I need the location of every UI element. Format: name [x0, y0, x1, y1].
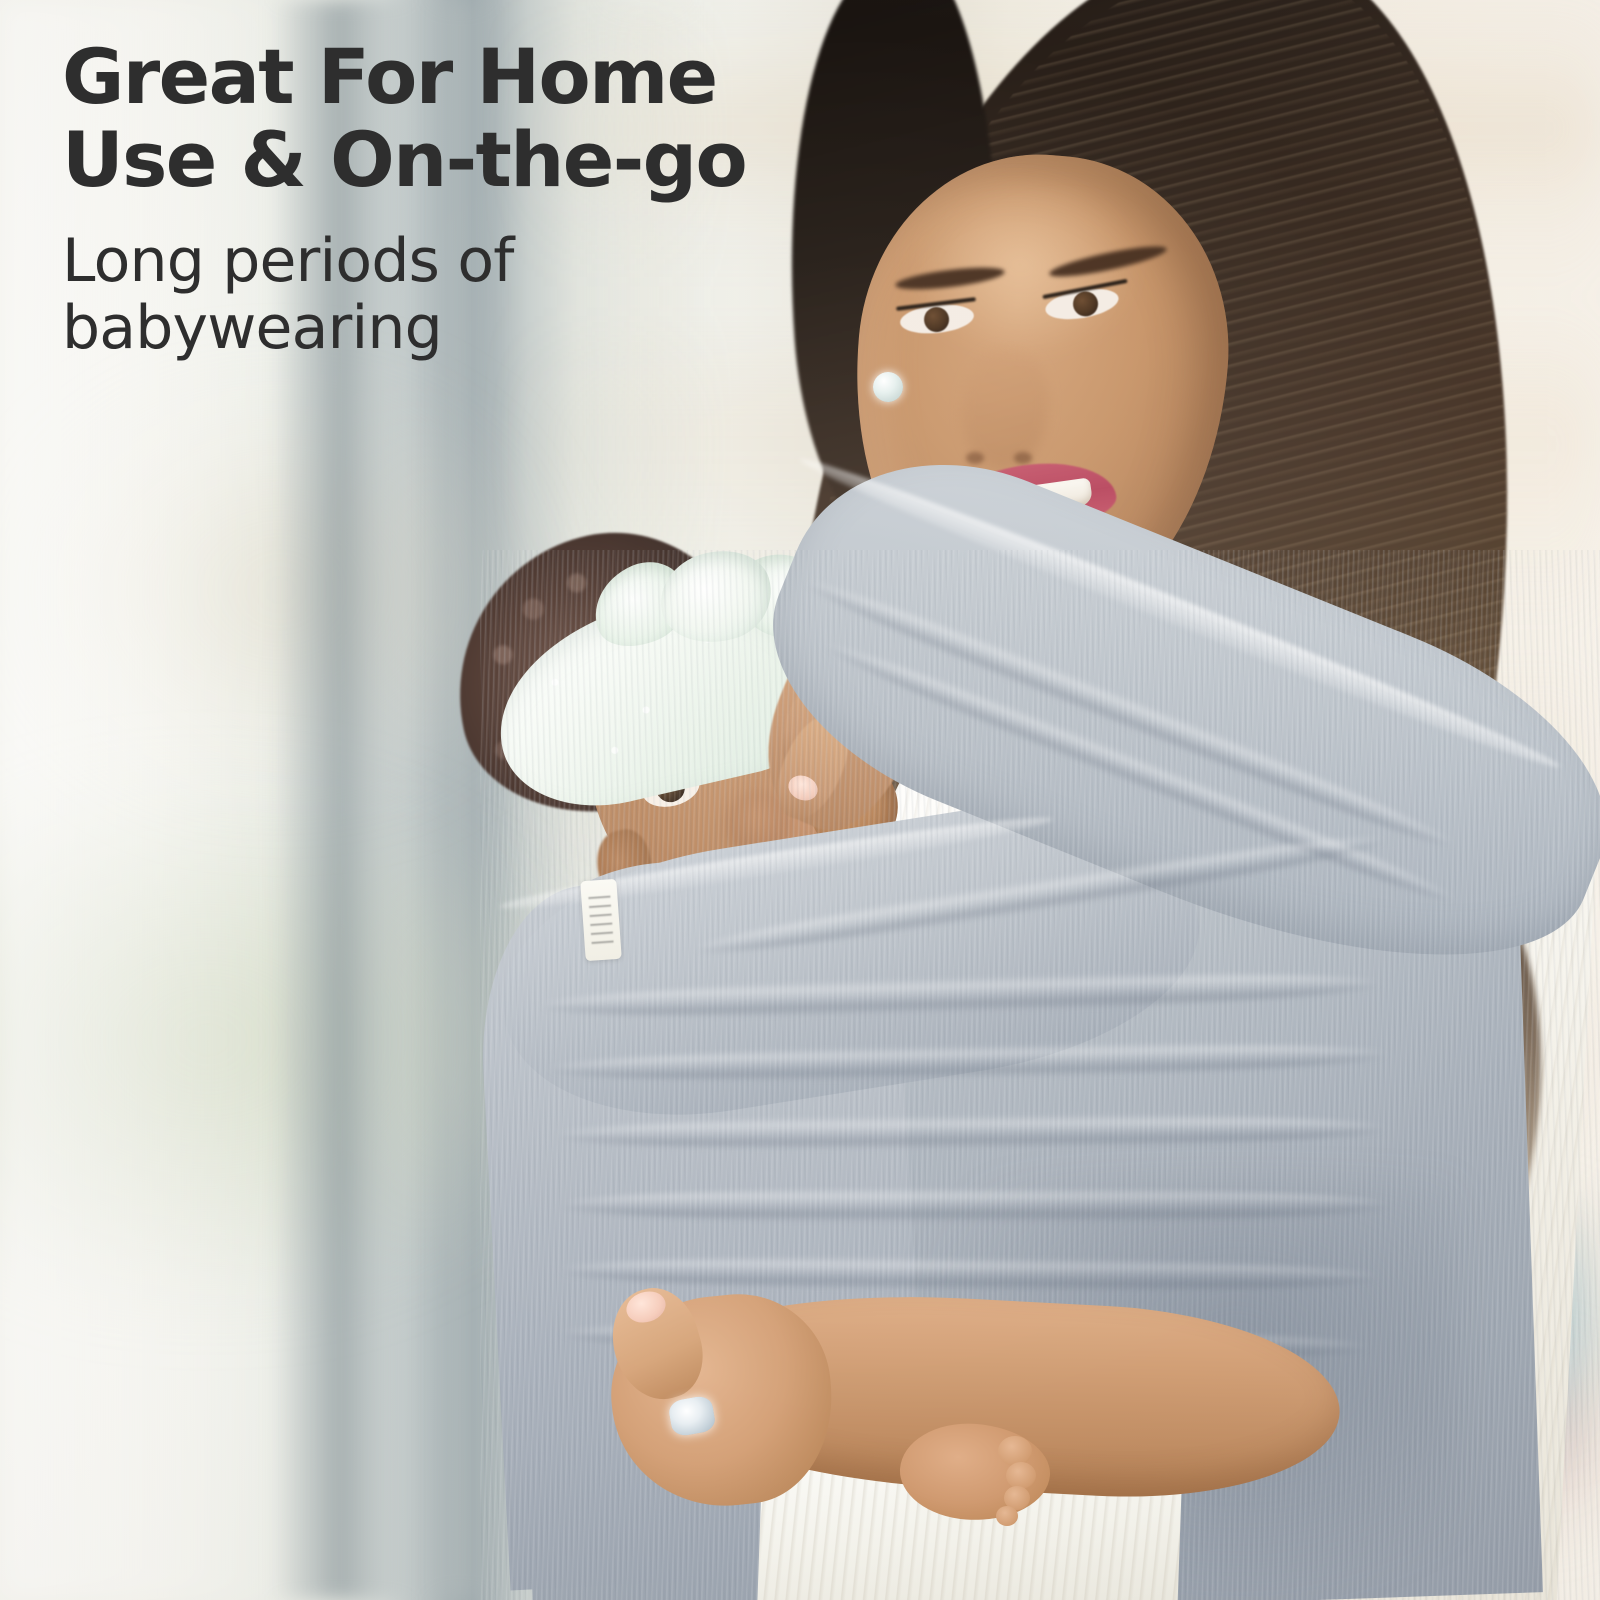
- mother-nostril-right: [1014, 452, 1032, 464]
- baby-toe: [996, 1506, 1018, 1526]
- wrap-care-tag: [580, 879, 621, 961]
- headline: Great For Home Use & On-the-go: [62, 36, 882, 202]
- iris: [1071, 289, 1100, 318]
- product-marketing-image: Great For Home Use & On-the-go Long peri…: [0, 0, 1600, 1600]
- pearl-earring: [873, 372, 903, 402]
- subheadline: Long periods of babywearing: [62, 228, 882, 364]
- mother-nostril-left: [966, 452, 984, 464]
- marketing-copy-block: Great For Home Use & On-the-go Long peri…: [62, 36, 882, 363]
- baby-toe: [998, 1436, 1032, 1466]
- baby-toe: [1006, 1462, 1036, 1489]
- iris: [923, 306, 950, 333]
